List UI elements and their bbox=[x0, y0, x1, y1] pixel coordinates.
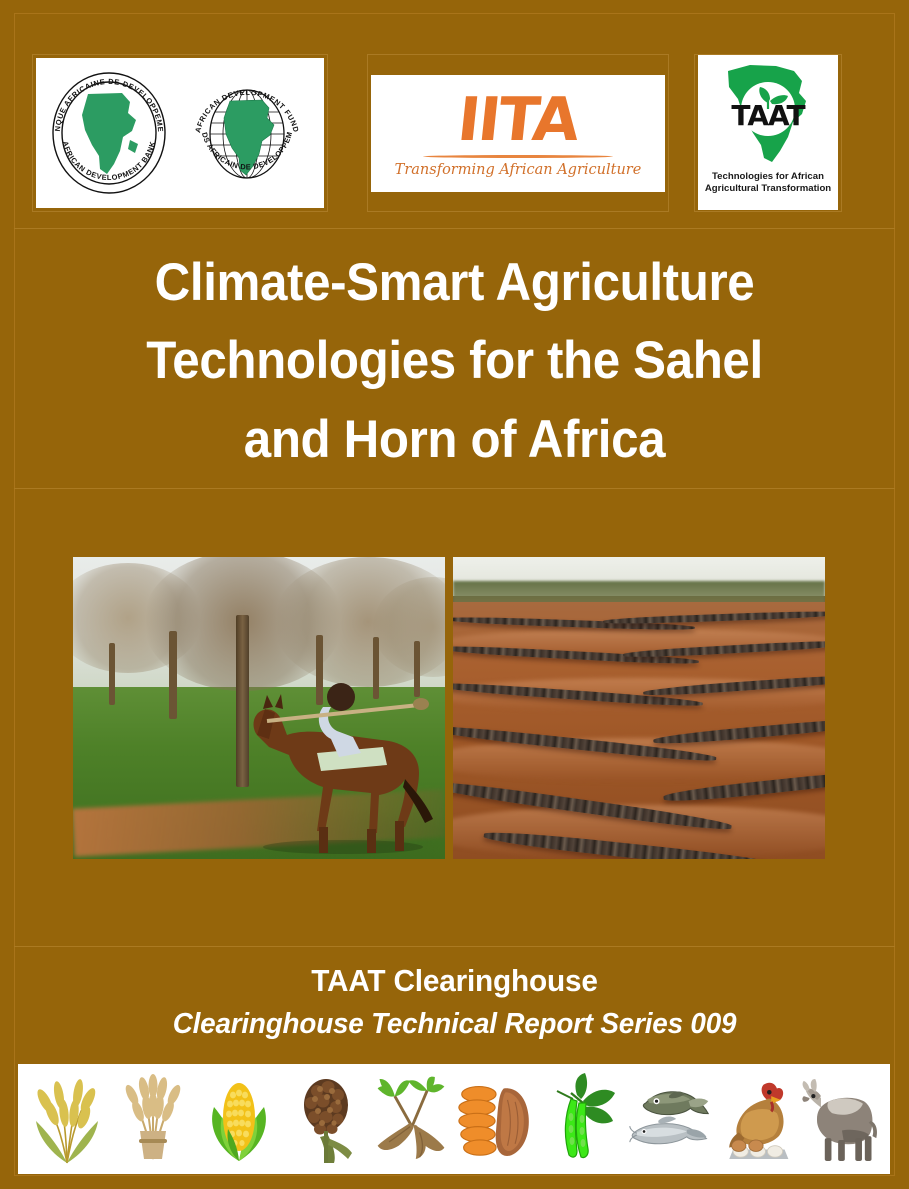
commodity-small-livestock-icon bbox=[800, 1071, 882, 1167]
afdb-fund-roundel-icon: AFRICAN DEVELOPMENT FUND FONDS AFRICAIN … bbox=[182, 68, 312, 198]
series-title: Clearinghouse Technical Report Series 00… bbox=[18, 1005, 891, 1044]
cover-footer: TAAT Clearinghouse Clearinghouse Technic… bbox=[0, 962, 909, 1044]
iita-logo: IITA Transforming African Agriculture bbox=[371, 75, 665, 192]
commodity-sweet-potato-icon bbox=[456, 1071, 538, 1167]
commodity-beans-cowpea-icon bbox=[542, 1071, 624, 1167]
title-line-3: and Horn of Africa bbox=[69, 401, 840, 479]
tilapia bbox=[643, 1092, 708, 1115]
divider-under-title bbox=[14, 488, 895, 489]
organization-name: TAAT Clearinghouse bbox=[18, 962, 891, 1001]
farmer-on-horse-figure bbox=[213, 661, 443, 857]
commodity-poultry-eggs-icon bbox=[714, 1071, 796, 1167]
commodity-wheat-icon bbox=[112, 1071, 194, 1167]
photo-agroforestry-parkland bbox=[73, 557, 445, 859]
logo-band: BANQUE AFRICAINE DE DEVELOPPEMENT AFRICA… bbox=[0, 28, 909, 188]
title-line-1: Climate-Smart Agriculture bbox=[69, 244, 840, 322]
taat-tagline: Technologies for African Agricultural Tr… bbox=[702, 171, 834, 195]
iita-wordmark: IITA bbox=[455, 90, 581, 150]
commodity-strip bbox=[18, 1064, 890, 1174]
commodity-sorghum-millet-icon bbox=[284, 1071, 366, 1167]
divider-under-logos bbox=[14, 228, 895, 229]
divider-above-footer bbox=[14, 946, 895, 947]
taat-tagline-line2: Agricultural Transformation bbox=[702, 183, 834, 195]
afdb-bank-roundel-icon: BANQUE AFRICAINE DE DEVELOPPEMENT AFRICA… bbox=[44, 68, 174, 198]
commodity-cassava-icon bbox=[370, 1071, 452, 1167]
photo-stone-bunds bbox=[453, 557, 825, 859]
cover-photo-pair bbox=[73, 557, 825, 859]
taat-tagline-line1: Technologies for African bbox=[702, 171, 834, 183]
commodity-fish-icon bbox=[628, 1071, 710, 1167]
commodity-rice-icon bbox=[26, 1071, 108, 1167]
commodity-maize-icon bbox=[198, 1071, 280, 1167]
taat-wordmark: TAAT bbox=[698, 99, 838, 132]
afdb-logo: BANQUE AFRICAINE DE DEVELOPPEMENT AFRICA… bbox=[36, 58, 324, 208]
title-line-2: Technologies for the Sahel bbox=[69, 322, 840, 400]
cover-title: Climate-Smart Agriculture Technologies f… bbox=[69, 244, 840, 479]
report-cover: BANQUE AFRICAINE DE DEVELOPPEMENT AFRICA… bbox=[0, 0, 909, 1189]
catfish bbox=[630, 1117, 707, 1144]
taat-logo: TAAT Technologies for African Agricultur… bbox=[698, 55, 838, 210]
iita-tagline: Transforming African Agriculture bbox=[395, 162, 642, 178]
